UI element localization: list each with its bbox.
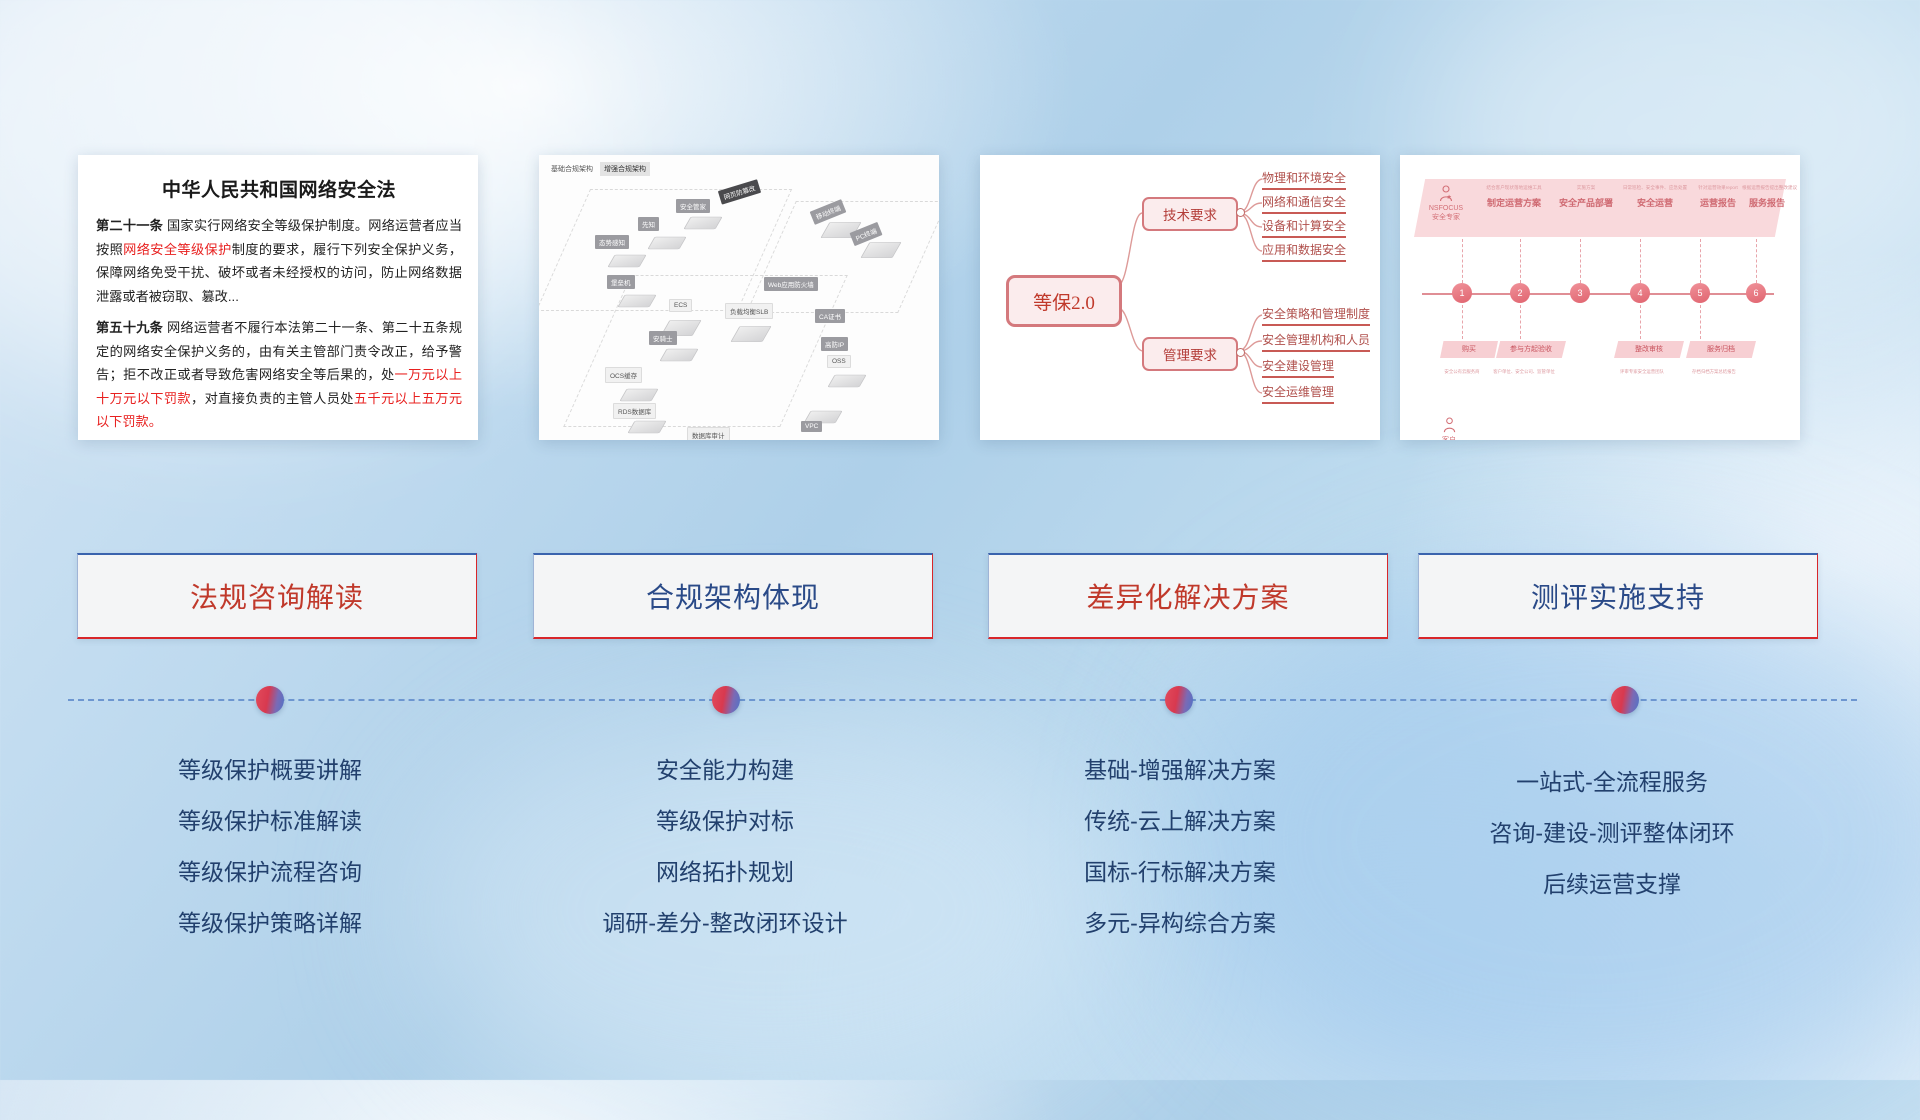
list-item: 等级保护对标	[525, 796, 925, 847]
section-title-4: 测评实施支持	[1531, 576, 1705, 616]
section-area: 法规咨询解读 合规架构体现 差异化解决方案 测评实施支持 等级保护概要讲解 等级…	[0, 0, 1920, 1080]
section-items-2: 安全能力构建 等级保护对标 网络拓扑规划 调研-差分-整改闭环设计	[525, 745, 925, 949]
list-item: 一站式-全流程服务	[1412, 757, 1812, 808]
section-title-box-2[interactable]: 合规架构体现	[533, 553, 933, 639]
timeline-dot-3[interactable]	[1165, 686, 1193, 714]
section-items-4: 一站式-全流程服务 咨询-建设-测评整体闭环 后续运营支撑	[1412, 757, 1812, 910]
section-title-3: 差异化解决方案	[1086, 576, 1289, 616]
list-item: 网络拓扑规划	[525, 847, 925, 898]
list-item: 等级保护标准解读	[70, 796, 470, 847]
list-item: 安全能力构建	[525, 745, 925, 796]
list-item: 调研-差分-整改闭环设计	[525, 898, 925, 949]
list-item: 咨询-建设-测评整体闭环	[1412, 808, 1812, 859]
section-title-2: 合规架构体现	[646, 576, 820, 616]
list-item: 基础-增强解决方案	[980, 745, 1380, 796]
section-items-3: 基础-增强解决方案 传统-云上解决方案 国标-行标解决方案 多元-异构综合方案	[980, 745, 1380, 949]
list-item: 等级保护流程咨询	[70, 847, 470, 898]
list-item: 后续运营支撑	[1412, 859, 1812, 910]
list-item: 多元-异构综合方案	[980, 898, 1380, 949]
timeline-dot-2[interactable]	[712, 686, 740, 714]
section-title-box-3[interactable]: 差异化解决方案	[988, 553, 1388, 639]
section-title-box-1[interactable]: 法规咨询解读	[77, 553, 477, 639]
timeline-dot-1[interactable]	[256, 686, 284, 714]
list-item: 等级保护概要讲解	[70, 745, 470, 796]
section-title-1: 法规咨询解读	[190, 576, 364, 616]
section-title-box-4[interactable]: 测评实施支持	[1418, 553, 1818, 639]
timeline-dashed-line	[68, 699, 1857, 701]
list-item: 传统-云上解决方案	[980, 796, 1380, 847]
list-item: 等级保护策略详解	[70, 898, 470, 949]
timeline-dot-4[interactable]	[1611, 686, 1639, 714]
section-items-1: 等级保护概要讲解 等级保护标准解读 等级保护流程咨询 等级保护策略详解	[70, 745, 470, 949]
list-item: 国标-行标解决方案	[980, 847, 1380, 898]
